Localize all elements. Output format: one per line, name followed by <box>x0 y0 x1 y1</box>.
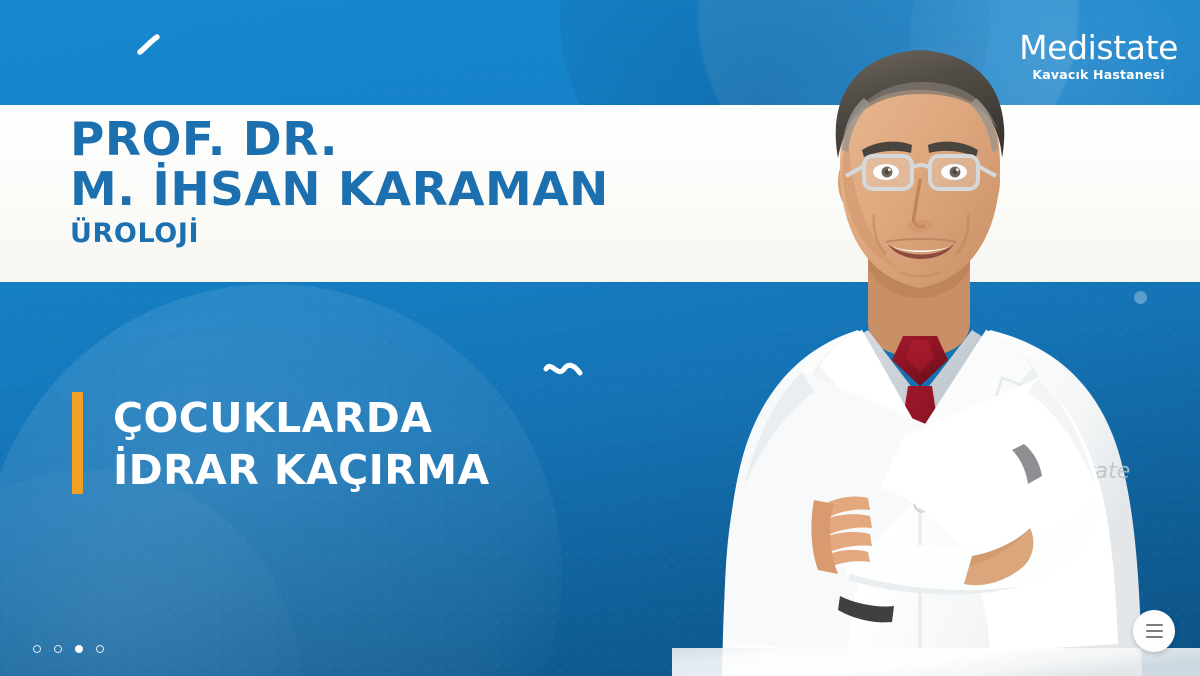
hamburger-line-2 <box>1146 630 1163 632</box>
carousel-dot-1[interactable] <box>33 645 41 653</box>
squiggle-wave-icon <box>542 356 586 382</box>
doctor-name-group: PROF. DR. M. İHSAN KARAMAN ÜROLOJİ <box>70 113 598 251</box>
doctor-title-line1: PROF. DR. <box>70 113 609 165</box>
headline-text-group: ÇOCUKLARDA İDRAR KAÇIRMA <box>113 392 490 496</box>
doctor-title-line2: M. İHSAN KARAMAN <box>70 163 609 215</box>
squiggle-stroke-icon <box>136 33 162 57</box>
doctor-specialty: ÜROLOJİ <box>70 217 598 251</box>
logo-wordmark: Medistate <box>1019 30 1178 66</box>
medistate-logo[interactable]: Medistate Kavacık Hastanesi <box>1019 30 1178 82</box>
hero-slide: Medistate <box>0 0 1200 676</box>
hamburger-menu-icon[interactable] <box>1133 610 1175 652</box>
hamburger-line-3 <box>1146 636 1163 638</box>
headline-line1: ÇOCUKLARDA <box>113 392 490 444</box>
headline-line2: İDRAR KAÇIRMA <box>113 444 490 496</box>
slide-headline: ÇOCUKLARDA İDRAR KAÇIRMA <box>72 392 490 496</box>
carousel-dot-2[interactable] <box>54 645 62 653</box>
doctor-portrait-image: Medistate <box>672 0 1200 676</box>
logo-tagline: Kavacık Hastanesi <box>1019 67 1178 82</box>
carousel-dot-4[interactable] <box>96 645 104 653</box>
hamburger-line-1 <box>1146 624 1163 626</box>
headline-accent-bar <box>72 392 83 494</box>
carousel-dot-3[interactable] <box>75 645 83 653</box>
carousel-pagination[interactable] <box>33 645 104 653</box>
